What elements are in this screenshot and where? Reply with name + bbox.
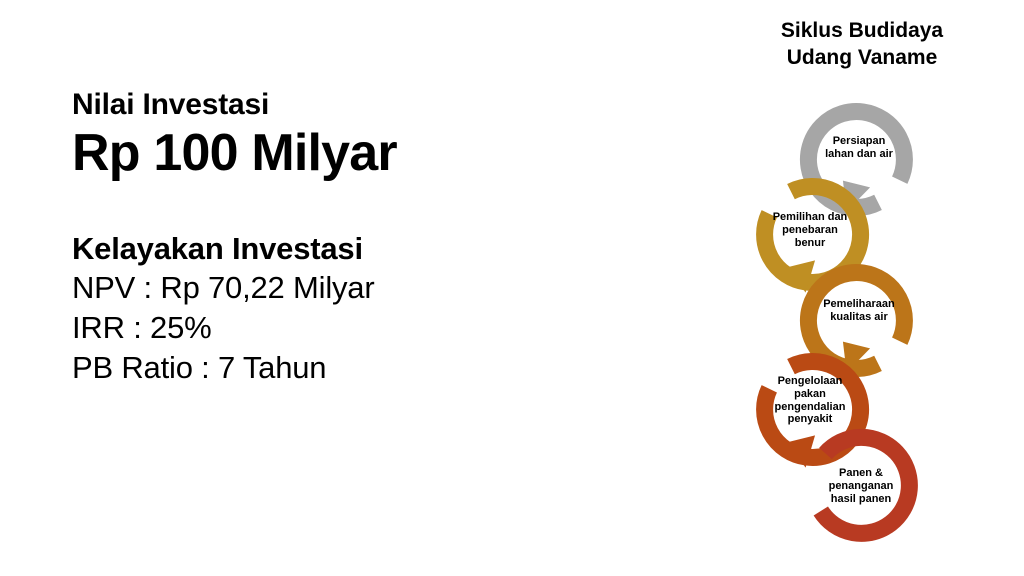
cycle-step-1-caption: Persiapan lahan dan air <box>799 135 919 161</box>
cycle-step-4-line-2: pakan <box>750 388 870 401</box>
cycle-step-4-line-3: pengendalian <box>750 401 870 414</box>
feasibility-npv: NPV : Rp 70,22 Milyar <box>72 268 542 308</box>
cycle-step-1-line-2: lahan dan air <box>799 148 919 161</box>
cycle-step-3-line-1: Pemeliharaan <box>799 298 919 311</box>
cycle-step-4-line-4: penyakit <box>750 413 870 426</box>
feasibility-pb-ratio: PB Ratio : 7 Tahun <box>72 348 542 388</box>
cycle-step-5-line-2: penanganan <box>801 480 921 493</box>
cycle-step-2-line-1: Pemilihan dan <box>750 211 870 224</box>
cycle-step-3-line-2: kualitas air <box>799 311 919 324</box>
feasibility-panel: Kelayakan Investasi NPV : Rp 70,22 Milya… <box>72 230 542 389</box>
investment-label: Nilai Investasi <box>72 88 542 122</box>
investment-amount: Rp 100 Milyar <box>72 124 542 182</box>
feasibility-irr: IRR : 25% <box>72 308 542 348</box>
cycle-step-5-caption: Panen & penanganan hasil panen <box>801 467 921 505</box>
cycle-step-2-line-2: penebaran <box>750 224 870 237</box>
cycle-step-4-caption: Pengelolaan pakan pengendalian penyakit <box>750 375 870 426</box>
investment-panel: Nilai Investasi Rp 100 Milyar Kelayakan … <box>72 88 542 389</box>
cycle-diagram-panel: Siklus Budidaya Udang Vaname <box>700 0 1024 576</box>
cycle-step-4-line-1: Pengelolaan <box>750 375 870 388</box>
feasibility-title: Kelayakan Investasi <box>72 230 542 268</box>
cycle-step-5-line-1: Panen & <box>801 467 921 480</box>
cycle-step-2-line-3: benur <box>750 237 870 250</box>
cycle-step-1-line-1: Persiapan <box>799 135 919 148</box>
cycle-step-3-caption: Pemeliharaan kualitas air <box>799 298 919 324</box>
cycle-step-2-caption: Pemilihan dan penebaran benur <box>750 211 870 249</box>
cycle-step-5-line-3: hasil panen <box>801 493 921 506</box>
